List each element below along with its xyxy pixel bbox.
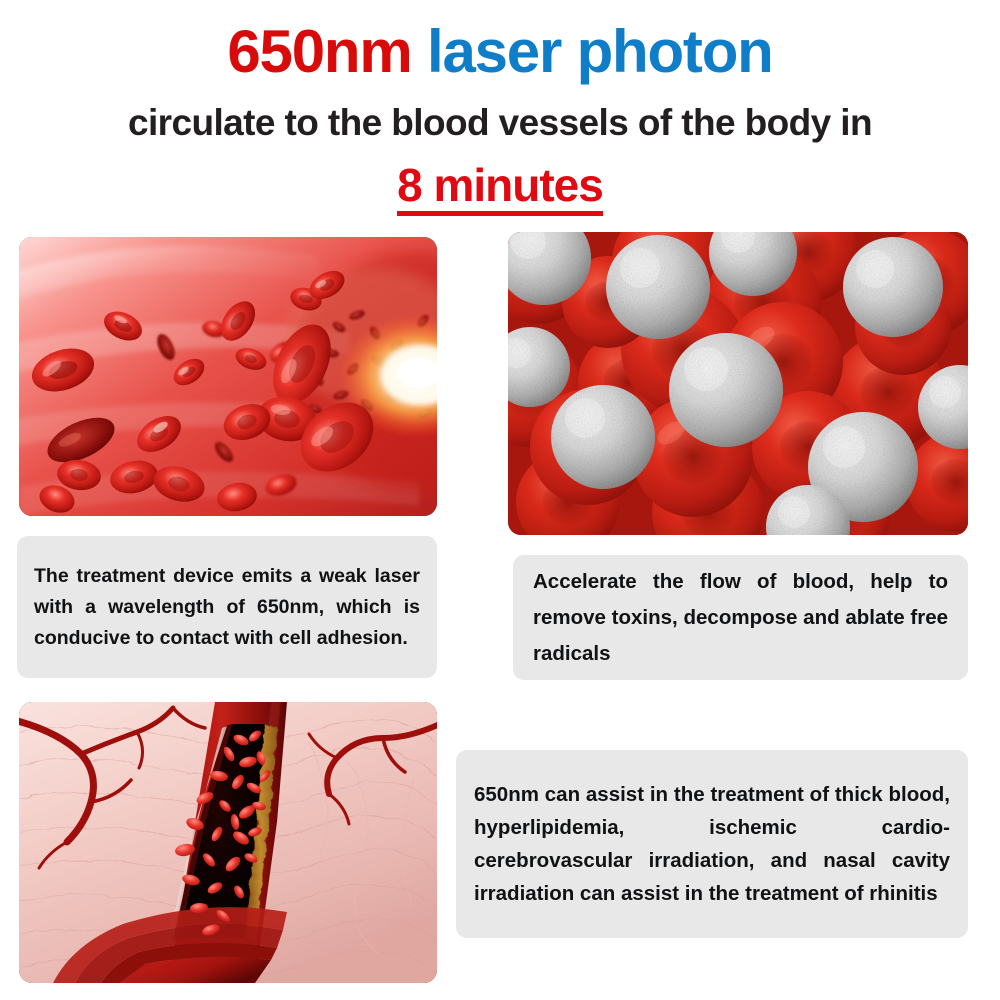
caption-box-laser-vessel: The treatment device emits a weak laser … [17,536,437,678]
image-blood-cells [508,232,968,535]
headline-block: 650nm laser photon circulate to the bloo… [0,0,1000,216]
image-vessel-cutaway [19,702,437,983]
image-laser-vessel [19,237,437,516]
caption-box-vessel-cutaway: 650nm can assist in the treatment of thi… [456,750,968,938]
blood-cells-illustration [508,232,968,535]
headline-line-1: 650nm laser photon [0,0,1000,82]
infographic-page: 650nm laser photon circulate to the bloo… [0,0,1000,1000]
caption-text-2: Accelerate the flow of blood, help to re… [533,564,948,672]
caption-text-1: The treatment device emits a weak laser … [34,561,420,654]
headline-wavelength: 650nm [227,18,411,85]
vessel-cutaway-illustration [19,702,437,983]
headline-laser-photon: laser photon [427,18,773,85]
caption-text-3: 650nm can assist in the treatment of thi… [474,778,950,910]
caption-box-blood-cells: Accelerate the flow of blood, help to re… [513,555,968,680]
headline-line-2: circulate to the blood vessels of the bo… [0,82,1000,141]
headline-duration: 8 minutes [397,162,603,216]
laser-vessel-illustration [19,237,437,516]
